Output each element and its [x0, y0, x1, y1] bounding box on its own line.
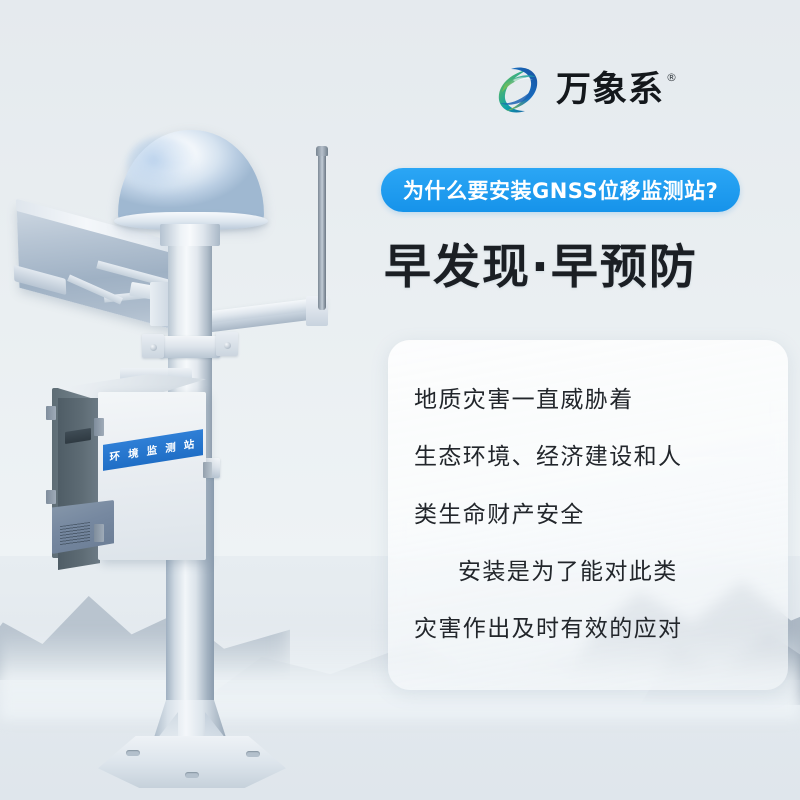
enclosure-hinge [94, 418, 104, 436]
whip-antenna-cap [316, 146, 328, 156]
base-bolt-hole [246, 751, 260, 757]
monitoring-station-illustration: 环 境 监 测 站 [0, 100, 380, 760]
gnss-dome-neck [160, 224, 220, 246]
question-banner: 为什么要安装GNSS位移监测站? [381, 168, 740, 212]
enclosure-front [98, 392, 206, 560]
page-title: 早发现·早预防 [384, 228, 698, 297]
brand-name-text: 万象系 [556, 73, 664, 108]
content-column: 万象系 ® 为什么要安装GNSS位移监测站? 早发现·早预防 地质灾害一直威胁着… [370, 0, 800, 800]
whip-antenna [318, 150, 326, 310]
brand-wordmark: 万象系 ® [556, 73, 677, 108]
base-bolt-hole [126, 750, 140, 756]
description-line: 生态环境、经济建设和人 [414, 431, 762, 483]
description-line: 安装是为了能对此类 [414, 546, 762, 598]
description-line: 灾害作出及时有效的应对 [414, 604, 762, 656]
question-banner-text: 为什么要安装GNSS位移监测站? [403, 175, 718, 205]
enclosure-hinge [46, 490, 56, 504]
globe-swirl-logo-icon [490, 62, 546, 118]
enclosure-tray-grille [60, 522, 90, 546]
description-line: 类生命财产安全 [414, 489, 762, 541]
pole-collar-upper [160, 336, 220, 358]
clamp-bolt [224, 342, 231, 349]
enclosure-hinge [94, 524, 104, 542]
gnss-dome-highlight [126, 136, 196, 196]
description-line: 地质灾害一直威胁着 [414, 374, 762, 426]
clamp-bolt [150, 344, 157, 351]
description-card-body: 地质灾害一直威胁着 生态环境、经济建设和人 类生命财产安全 安装是为了能对此类 … [388, 340, 788, 690]
base-bolt-hole [185, 772, 199, 778]
brand-lockup: 万象系 ® [490, 62, 677, 118]
enclosure-latch [203, 462, 212, 478]
description-card: 地质灾害一直威胁着 生态环境、经济建设和人 类生命财产安全 安装是为了能对此类 … [388, 340, 788, 690]
poster-canvas: 环 境 监 测 站 [0, 0, 800, 800]
registered-trademark-icon: ® [666, 71, 677, 84]
enclosure-hinge [46, 406, 56, 420]
base-plate [98, 736, 286, 788]
